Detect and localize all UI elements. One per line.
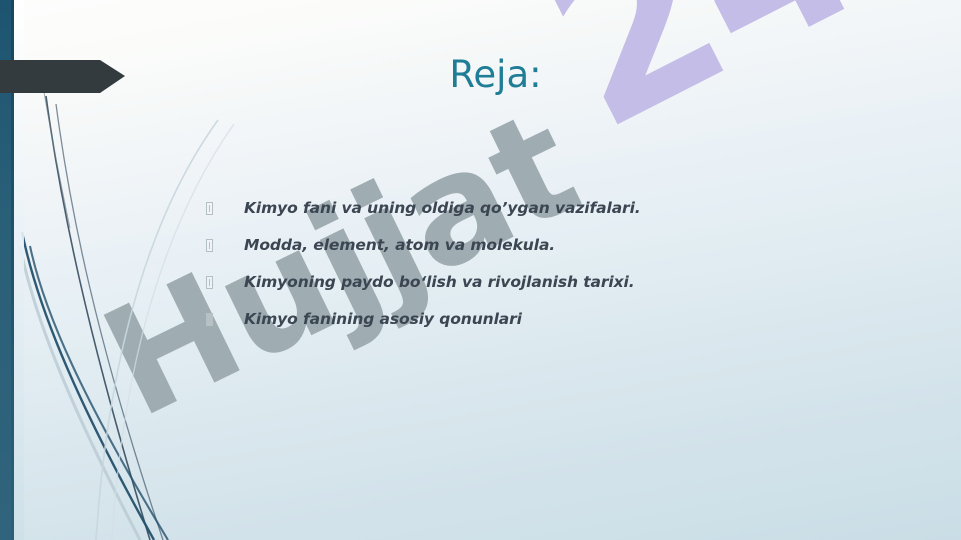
list-item: Kimyo fanining asosiy qonunlari: [206, 308, 846, 332]
list-item-label: Kimyo fani va uning oldiga qo’ygan vazif…: [244, 197, 641, 219]
curve-line-dark-2: [56, 104, 163, 540]
missing-glyph-box-icon: [206, 313, 213, 326]
list-item: Kimyo fani va uning oldiga qo’ygan vazif…: [206, 197, 846, 221]
curve-line-dark-3: [22, 232, 154, 540]
curve-line-light-1: [20, 246, 140, 540]
presentation-slide: 24 Hujjat Reja: Kimyo fani va uning oldi…: [0, 0, 961, 540]
missing-glyph-box-icon: [206, 239, 213, 252]
missing-glyph-box-icon: [206, 276, 213, 289]
missing-glyph-box-icon: [206, 202, 213, 215]
curve-line-thin-1: [44, 92, 70, 228]
bullet-list: Kimyo fani va uning oldiga qo’ygan vazif…: [206, 197, 846, 345]
list-item-label: Modda, element, atom va molekula.: [244, 234, 555, 256]
list-item-label: Kimyo fanining asosiy qonunlari: [244, 308, 522, 330]
curve-line-dark-1: [46, 96, 150, 540]
curve-line-light-2: [96, 120, 218, 540]
list-item: Modda, element, atom va molekula.: [206, 234, 846, 258]
list-item-label: Kimyoning paydo bo‘lish va rivojlanish t…: [244, 271, 635, 293]
list-item: Kimyoning paydo bo‘lish va rivojlanish t…: [206, 271, 846, 295]
slide-title: Reja:: [0, 53, 961, 97]
curve-line-dark-4: [30, 246, 168, 540]
